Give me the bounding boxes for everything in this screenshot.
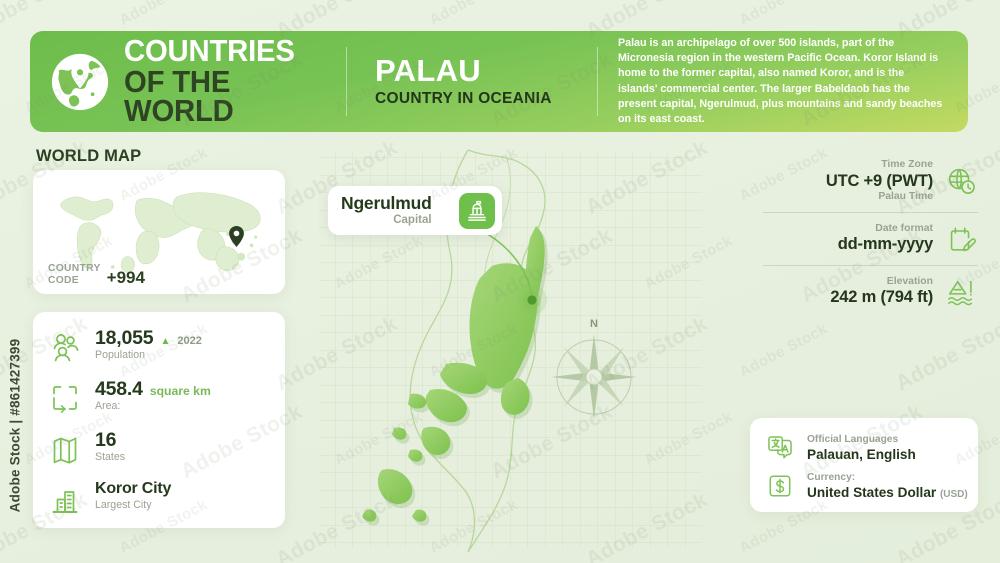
stat-body: 16 States [95,428,125,463]
info-row-value: dd-mm-yyyy [838,235,933,253]
country-code-label: COUNTRY CODE [48,263,101,287]
info-row-value: 242 m (794 ft) [830,288,933,306]
stat-main-line: 16 [95,430,125,450]
stat-row: Koror City Largest City [47,479,275,527]
lang-currency-row: Currency: United States Dollar (USD) [764,467,968,505]
info-row-value: UTC +9 (PWT) [826,172,933,190]
compass-rose: N [543,318,645,422]
compass-north-label: N [543,318,645,330]
stat-value: Koror City [95,481,171,498]
elevation-mountain-waves-icon [944,275,978,309]
brand-block: COUNTRIES OF THE WORLD [30,31,346,132]
capital-callout-text: Ngerulmud Capital [341,195,432,227]
info-row-text: Time Zone UTC +9 (PWT) Palau Time [826,159,933,203]
adobe-stock-id-text: Adobe Stock | #861427399 [8,338,23,512]
stat-row: 458.4 square km Area: [47,377,275,425]
info-row-sub: Palau Time [878,191,933,203]
statistics-card: 18,055 ▲ 2022 Population 458.4 square km… [33,312,285,528]
info-row-label: Date format [875,223,933,235]
stat-label: States [95,451,125,463]
stat-value: 16 [95,430,116,450]
stat-body: Koror City Largest City [95,479,171,511]
stat-label: Population [95,349,202,361]
stat-row: 16 States [47,428,275,476]
stat-main-line: 18,055 ▲ 2022 [95,328,202,348]
infographic-root: Adobe StockAdobe StockAdobe StockAdobe S… [0,0,1000,563]
info-row-label: Elevation [887,276,933,288]
stat-body: 18,055 ▲ 2022 Population [95,326,202,361]
country-subtitle: COUNTRY IN OCEANIA [375,90,597,108]
country-info-panel: Time Zone UTC +9 (PWT) Palau Time Date f… [763,150,978,318]
city-buildings-icon [47,482,83,518]
header-banner: COUNTRIES OF THE WORLD PALAU COUNTRY IN … [30,31,968,132]
lang-currency-label: Official Languages [807,434,916,446]
stat-body: 458.4 square km Area: [95,377,211,412]
lang-currency-row: Official Languages Palauan, English [764,429,968,467]
lang-currency-value: United States Dollar (USD) [807,485,968,501]
stat-row: 18,055 ▲ 2022 Population [47,326,275,374]
stat-year: 2022 [177,335,201,347]
lang-currency-text: Currency: United States Dollar (USD) [807,472,968,500]
watermark-tile: Adobe Stock [737,0,831,29]
calendar-edit-icon [944,222,978,256]
watermark-tile: Adobe Stock [117,0,211,29]
country-description-block: Palau is an archipelago of over 500 isla… [598,31,968,132]
info-row: Date format dd-mm-yyyy [763,213,978,265]
brand-line-2: OF THE WORLD [124,68,324,127]
info-row-text: Elevation 242 m (794 ft) [830,276,933,308]
country-name: PALAU [375,55,597,88]
globe-clock-icon [944,164,978,198]
lang-currency-label: Currency: [807,472,968,484]
capital-role-label: Capital [393,215,431,227]
people-icon [47,329,83,365]
stat-main-line: 458.4 square km [95,379,211,399]
translate-icon [764,432,796,464]
stat-value: 18,055 [95,328,153,348]
dollar-icon [764,470,796,502]
currency-code: (USD) [940,489,968,500]
stat-value: 458.4 [95,379,143,399]
stat-unit: square km [150,384,211,398]
brand-line-1: COUNTRIES [124,37,324,66]
brand-wordmark: COUNTRIES OF THE WORLD [124,37,332,127]
palau-map-stage: Ngerulmud Capital [300,140,720,560]
watermark-tile: Adobe Stock [892,312,1000,396]
stat-label: Area: [95,400,211,412]
capital-name: Ngerulmud [341,195,432,213]
country-code-value: +994 [107,269,145,287]
map-pin-icon [229,226,244,252]
capitol-building-icon [459,193,495,229]
info-row: Time Zone UTC +9 (PWT) Palau Time [763,150,978,212]
info-row: Elevation 242 m (794 ft) [763,266,978,318]
country-description: Palau is an archipelago of over 500 isla… [618,36,946,127]
folded-map-icon [47,431,83,467]
watermark-tile: Adobe Stock [737,320,831,381]
world-map-card: COUNTRY CODE +994 [33,170,285,294]
adobe-stock-id-watermark: Adobe Stock | #861427399 [2,300,28,550]
watermark-tile: Adobe Stock [427,0,521,29]
lang-currency-text: Official Languages Palauan, English [807,434,916,462]
info-row-text: Date format dd-mm-yyyy [838,223,933,255]
globe-pin-icon [49,51,111,113]
world-map-title: WORLD MAP [36,147,141,166]
capital-marker-dot [527,295,536,304]
area-square-icon [47,380,83,416]
stat-label: Largest City [95,499,171,511]
country-title-block: PALAU COUNTRY IN OCEANIA [347,31,597,132]
lang-currency-value: Palauan, English [807,447,916,463]
stat-main-line: Koror City [95,481,171,498]
trend-up-icon: ▲ [160,336,170,347]
info-row-label: Time Zone [881,159,933,171]
language-currency-card: Official Languages Palauan, English Curr… [750,418,978,512]
country-code-block: COUNTRY CODE +994 [48,263,145,287]
capital-callout[interactable]: Ngerulmud Capital [328,186,502,235]
